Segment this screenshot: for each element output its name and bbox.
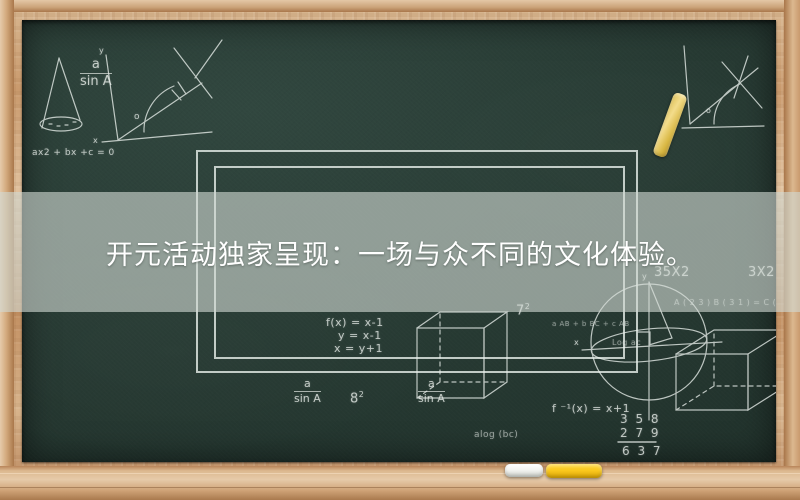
- law-of-sines-top-left: a sin A: [80, 58, 112, 88]
- chalk-stick-yellow-ledge: [546, 464, 602, 478]
- quadratic-equation: ax2 + bx +c = 0: [32, 148, 115, 158]
- caption-text: 开元活动独家呈现：一场与众不同的文化体验。: [106, 233, 694, 272]
- sum-row-1: 3 5 8: [620, 412, 661, 426]
- eight-squared: 82: [350, 390, 364, 406]
- vector-note: a AB + b BC + c AB: [552, 320, 630, 328]
- ledge-highlight-line: [0, 473, 800, 474]
- sum-row-3: 6 3 7: [622, 444, 663, 458]
- angle-label-topleft: o: [134, 112, 140, 122]
- axis-label-y-topleft: y: [99, 46, 104, 55]
- function-line-2: y = x-1: [338, 329, 382, 342]
- chalk-ledge: [0, 466, 800, 500]
- sum-row-2: 2 7 9: [620, 426, 661, 440]
- chalkboard-scene: a sin A ax2 + bx +c = 0 y x o o f(x) = x…: [0, 0, 800, 500]
- caption-overlay-band: 开元活动独家呈现：一场与众不同的文化体验。: [0, 192, 800, 312]
- function-line-3: x = y+1: [334, 342, 383, 355]
- log-bc-note: alog (bc): [474, 430, 518, 440]
- axis-label-x-topleft: x: [93, 136, 98, 145]
- chalk-stick-white-ledge: [505, 464, 543, 477]
- function-line-1: f(x) = x-1: [326, 316, 384, 329]
- law-of-sines-bottom-2: a sin A: [418, 378, 445, 404]
- ledge-shadow-line: [0, 487, 800, 488]
- law-of-sines-bottom-1: a sin A: [294, 378, 321, 404]
- log-ac-note: Log ac: [612, 338, 641, 347]
- angle-label-topright: o: [706, 106, 711, 115]
- inverse-function: f ⁻¹(x) = x+1: [552, 402, 630, 415]
- frame-bevel-top: [0, 0, 800, 12]
- axis-label-x-bottomright: x: [574, 338, 579, 347]
